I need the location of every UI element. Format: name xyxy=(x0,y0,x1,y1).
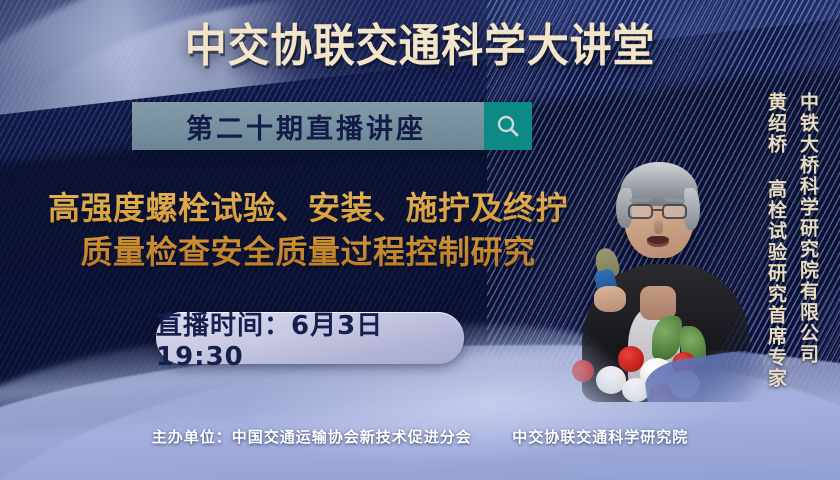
portrait-nose xyxy=(654,220,663,234)
portrait-mouth xyxy=(647,236,669,247)
portrait-hand xyxy=(594,286,626,312)
broadcast-time-badge: 直播时间：6月3日19:30 xyxy=(156,312,464,364)
portrait-glasses-right-lens xyxy=(662,204,687,219)
footer-institute: 中交协联交通科学研究院 xyxy=(512,428,688,446)
bouquet-flower-red-3 xyxy=(572,360,594,382)
search-button[interactable] xyxy=(484,102,532,150)
search-icon xyxy=(495,113,521,139)
episode-label: 第二十期直播讲座 xyxy=(132,102,484,150)
portrait-glasses-left-lens xyxy=(628,204,653,219)
episode-banner: 第二十期直播讲座 xyxy=(132,102,532,150)
footer-organizer: 主办单位：中国交通运输协会新技术促进分会 xyxy=(152,428,472,446)
portrait-glasses-bridge xyxy=(653,209,662,211)
flower-bouquet xyxy=(560,312,760,402)
headline-line-1: 高强度螺栓试验、安装、施拧及终拧 xyxy=(48,189,568,227)
page-title: 中交协联交通科学大讲堂 xyxy=(29,18,810,74)
speaker-organization: 中铁大桥科学研究院有限公司 xyxy=(795,92,822,365)
footer: 主办单位：中国交通运输协会新技术促进分会 中交协联交通科学研究院 xyxy=(0,426,840,447)
live-lecture-poster: 中交协联交通科学大讲堂 第二十期直播讲座 高强度螺栓试验、安装、施拧及终拧 质量… xyxy=(0,0,840,480)
speaker-name-title: 黄绍桥 高栓试验研究首席专家 xyxy=(763,92,790,389)
lecture-headline: 高强度螺栓试验、安装、施拧及终拧 质量检查安全质量过程控制研究 xyxy=(8,186,608,274)
headline-line-2: 质量检查安全质量过程控制研究 xyxy=(8,230,608,274)
